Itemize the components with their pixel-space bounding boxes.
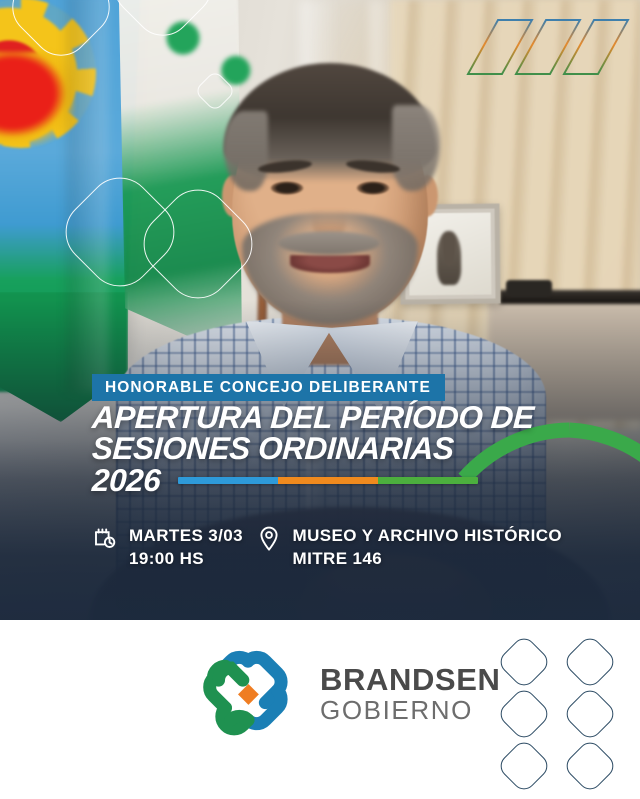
footer: BRANDSEN GOBIERNO [0,620,640,799]
diamond-outline-icon [562,738,619,795]
diamond-grid-decoration [498,638,622,786]
organization-banner-text: HONORABLE CONCEJO DELIBERANTE [105,380,431,396]
event-location-text: MUSEO Y ARCHIVO HISTÓRICO MITRE 146 [293,524,562,570]
year-row: 2026 [92,465,562,496]
event-time: 19:00 HS [129,547,243,570]
brand-wordmark: BRANDSEN GOBIERNO [320,663,500,725]
event-venue: MUSEO Y ARCHIVO HISTÓRICO [293,524,562,547]
person-eye-right [356,181,390,195]
hero-photo: HONORABLE CONCEJO DELIBERANTE APERTURA D… [0,0,640,620]
event-date: MARTES 3/03 [129,524,243,547]
map-pin-icon [256,524,282,554]
page-title: APERTURA DEL PERÍODO DE SESIONES ORDINAR… [92,402,562,464]
brand-subtitle: GOBIERNO [320,696,500,725]
event-location-block: MUSEO Y ARCHIVO HISTÓRICO MITRE 146 [256,524,562,570]
diamond-outline-icon [496,738,553,795]
tricolor-rule [178,477,478,484]
calendar-clock-icon [92,524,118,554]
brandsen-clover-logo-icon [196,642,300,746]
event-details: MARTES 3/03 19:00 HS MUSEO Y ARCHIVO HIS… [92,524,562,570]
rule-segment-orange [278,477,378,484]
rule-segment-green [378,477,478,484]
diamond-outline-icon [562,686,619,743]
event-date-block: MARTES 3/03 19:00 HS [92,524,256,570]
person-mouth [290,255,370,273]
organization-banner: HONORABLE CONCEJO DELIBERANTE [92,374,445,401]
flag-sun-core [0,52,74,144]
logo-center-diamond [238,684,259,705]
diamond-outline-icon [562,634,619,691]
calendar-clock-icon-svg [93,526,117,550]
brand-name: BRANDSEN [320,663,500,696]
person-eye-left [270,181,304,195]
rule-segment-blue [178,477,278,484]
brand-logo: BRANDSEN GOBIERNO [196,642,500,746]
headline-line-1: APERTURA DEL PERÍODO DE [91,402,563,433]
event-address: MITRE 146 [293,547,562,570]
headline-year: 2026 [91,465,161,496]
event-date-text: MARTES 3/03 19:00 HS [129,524,243,570]
poster-canvas: HONORABLE CONCEJO DELIBERANTE APERTURA D… [0,0,640,799]
diamond-outline-icon [496,634,553,691]
diamond-outline-icon [496,686,553,743]
map-pin-icon-svg [258,526,280,552]
diagonal-stripes-decoration [440,8,630,118]
headline-line-2: SESIONES ORDINARIAS [91,433,563,464]
person-moustache [278,231,380,255]
desk-object [506,280,552,296]
person-hair-grey-left [224,111,268,191]
